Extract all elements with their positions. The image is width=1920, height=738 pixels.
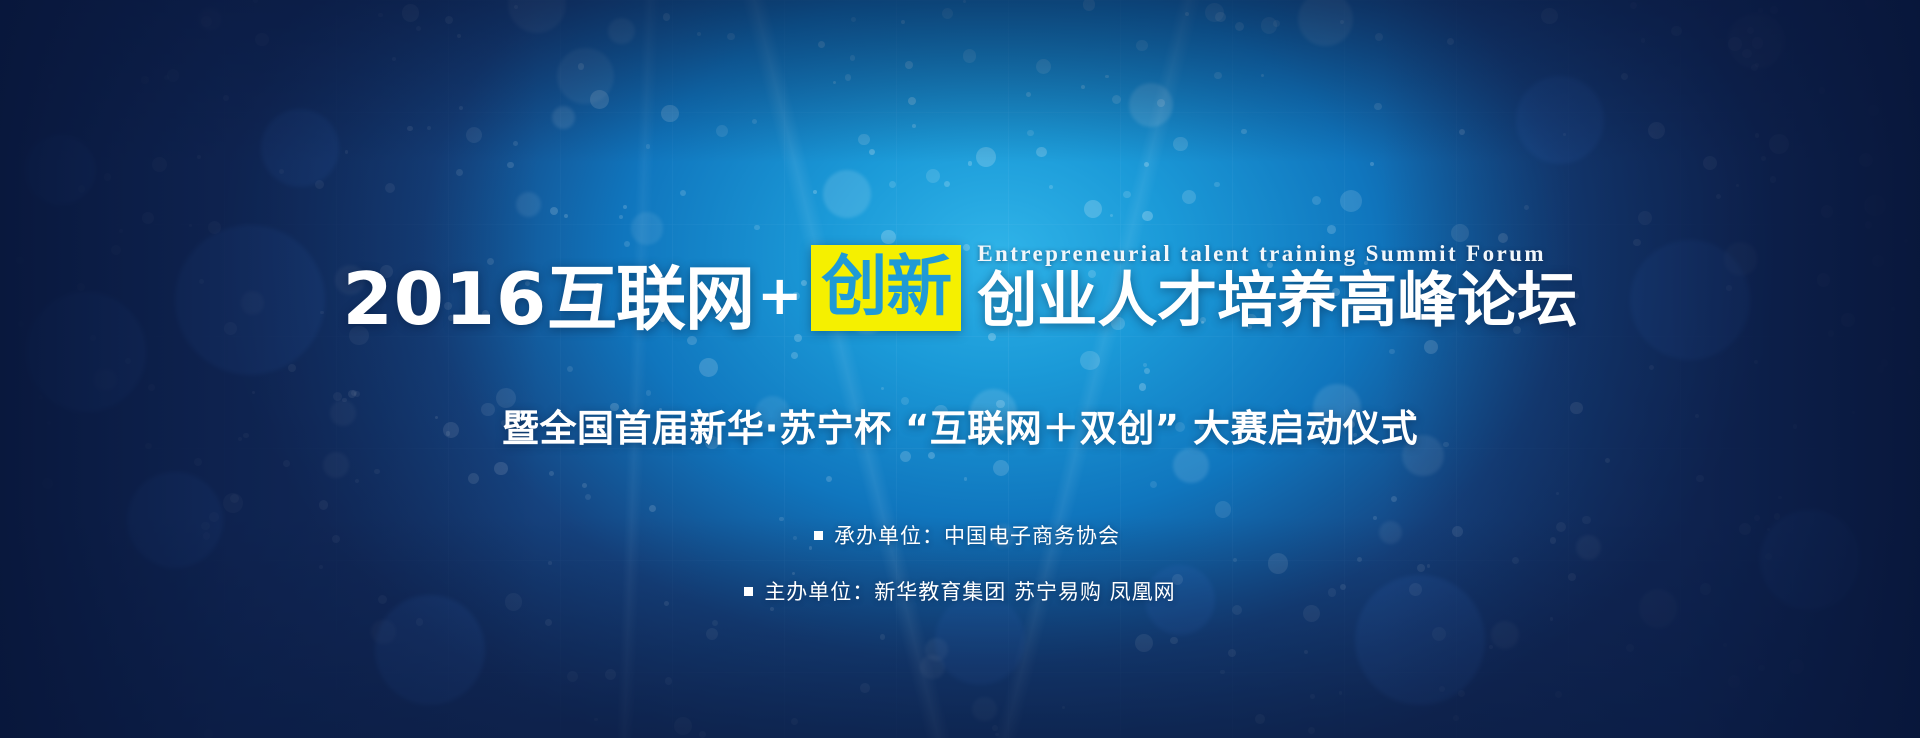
headline-row: 2016 互联网 + 创新 Entrepreneurial talent tra…	[0, 232, 1920, 332]
credit-line-host: 主办单位：新华教育集团 苏宁易购 凤凰网	[744, 576, 1175, 606]
headline-internet-label: 互联网	[547, 266, 754, 333]
credits-block: 承办单位：中国电子商务协会 主办单位：新华教育集团 苏宁易购 凤凰网	[0, 520, 1920, 632]
headline-main-chinese-title: 创业人才培养高峰论坛	[977, 273, 1577, 331]
square-bullet-icon	[814, 531, 823, 540]
headline-right-group: Entrepreneurial talent training Summit F…	[977, 241, 1577, 332]
headline-innovation-badge: 创新	[811, 245, 961, 331]
headline-year: 2016	[343, 266, 547, 332]
credit-label-organizer: 承办单位：中国电子商务协会	[834, 520, 1120, 550]
headline-plus-symbol: +	[754, 266, 805, 332]
square-bullet-icon	[744, 587, 753, 596]
sub-headline: 暨全国首届新华·苏宁杯 “互联网＋双创” 大赛启动仪式	[0, 398, 1920, 452]
headline-left-group: 2016 互联网 + 创新	[343, 245, 964, 332]
headline-english-subtitle: Entrepreneurial talent training Summit F…	[977, 241, 1577, 267]
credit-label-host: 主办单位：新华教育集团 苏宁易购 凤凰网	[764, 576, 1175, 606]
credit-line-organizer: 承办单位：中国电子商务协会	[814, 520, 1120, 550]
event-banner: 2016 互联网 + 创新 Entrepreneurial talent tra…	[0, 0, 1920, 738]
